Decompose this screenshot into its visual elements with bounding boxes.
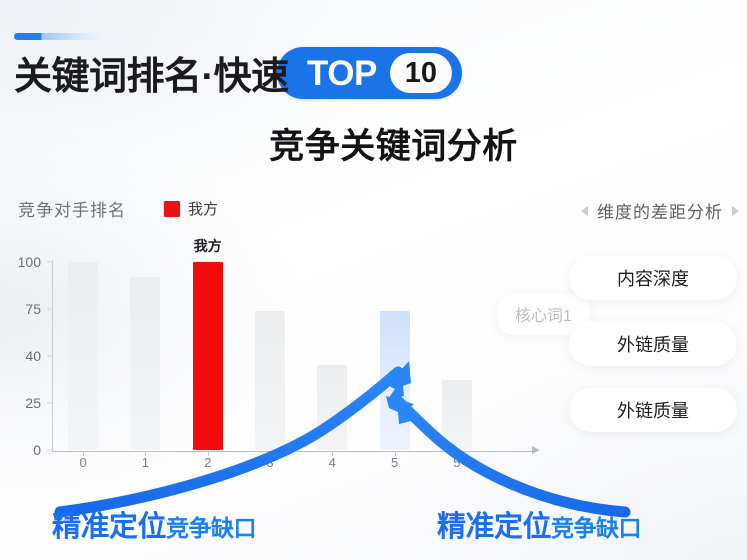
- headline-row: 关键词排名·快速: [14, 48, 289, 106]
- caption-right-strong: 精准定位: [437, 503, 551, 545]
- dimension-pill[interactable]: 外链质量: [569, 322, 737, 366]
- top-badge-label: TOP: [307, 56, 390, 91]
- x-axis-tick-label: 3: [266, 455, 273, 470]
- dimension-pill-list: 内容深度 外链质量 外链质量: [569, 256, 737, 432]
- chart-bar: [380, 311, 410, 450]
- chart-bar: [68, 262, 98, 450]
- dimension-panel-header: 维度的差距分析: [581, 198, 739, 223]
- chart-bar: [317, 365, 347, 450]
- dimension-pill[interactable]: 内容深度: [569, 256, 737, 300]
- x-axis-tick-label: 0: [80, 455, 87, 470]
- chart-bar-label: 我方: [194, 236, 222, 256]
- caption-right: 精准定位 竞争缺口: [437, 503, 641, 545]
- x-axis-tick-label: 5: [391, 455, 398, 470]
- x-axis-line: [52, 451, 534, 452]
- chart-bar: 我方: [193, 262, 223, 450]
- x-axis-arrow-icon: [532, 446, 540, 454]
- y-axis-tick-mark: [47, 403, 52, 404]
- y-axis-tick-mark: [47, 450, 52, 451]
- y-axis-tick-mark: [47, 309, 52, 310]
- y-axis-tick-mark: [47, 356, 52, 357]
- x-axis-tick-label: 1: [142, 455, 149, 470]
- top-rank-badge: TOP 10: [277, 47, 462, 99]
- triangle-left-icon: [581, 206, 588, 216]
- legend-series-label: 我方: [188, 198, 218, 219]
- top-badge-count: 10: [390, 53, 452, 93]
- legend-color-swatch-icon: [164, 201, 180, 217]
- page-title: 关键词排名·快速: [14, 58, 289, 96]
- x-axis-tick-label: 4: [329, 455, 336, 470]
- y-axis-tick-mark: [47, 262, 52, 263]
- dimension-panel-title: 维度的差距分析: [597, 198, 723, 223]
- caption-left: 精准定位 竞争缺口: [52, 503, 256, 545]
- bar-chart: 我方1007540250 0123455: [8, 250, 528, 480]
- dimension-pill[interactable]: 外链质量: [569, 388, 737, 432]
- caption-left-sub: 竞争缺口: [166, 509, 256, 543]
- chart-axis-title: 竞争对手排名: [18, 196, 126, 221]
- slide-canvas: 关键词排名·快速 TOP 10 竞争关键词分析 竞争对手排名 我方 维度的差距分…: [0, 0, 747, 560]
- triangle-right-icon: [732, 206, 739, 216]
- x-axis-tick-label: 5: [453, 455, 460, 470]
- caption-right-sub: 竞争缺口: [551, 509, 641, 543]
- caption-left-strong: 精准定位: [52, 503, 166, 545]
- x-axis-tick-label: 2: [204, 455, 211, 470]
- page-subtitle: 竞争关键词分析: [0, 118, 747, 169]
- chart-plot-area: 我方1007540250: [52, 262, 488, 450]
- chart-bar: [130, 277, 160, 450]
- chart-legend: 竞争对手排名 我方: [18, 196, 218, 221]
- chart-bar: [442, 380, 472, 450]
- chart-bar: [255, 311, 285, 450]
- legend-series-item: 我方: [164, 198, 218, 219]
- progress-bar-decoration-icon: [14, 33, 104, 40]
